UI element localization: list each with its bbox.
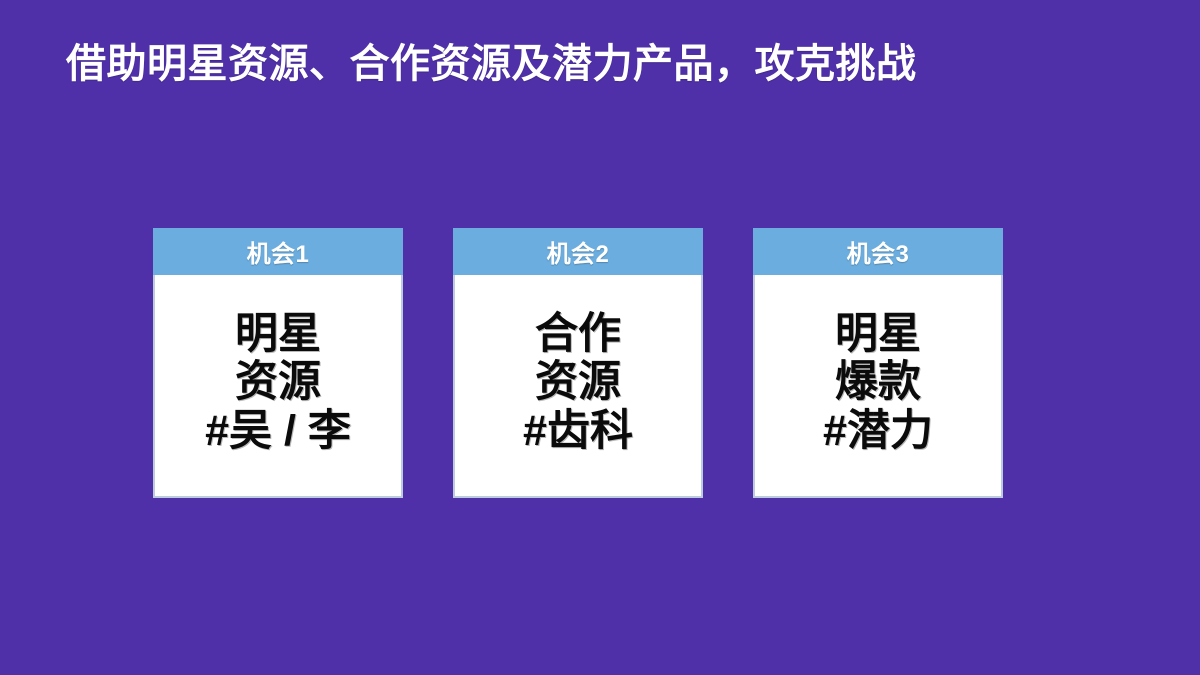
opportunity-cards-row: 机会1 明星 资源 #吴 / 李 机会2 合作 资源 #齿科 机会3 明星 爆款…: [153, 228, 1053, 498]
opportunity-card-3-line-1: 明星: [835, 310, 921, 358]
opportunity-card-1-line-1: 明星: [235, 310, 321, 358]
page-title: 借助明星资源、合作资源及潜力产品，攻克挑战: [66, 40, 1146, 88]
opportunity-card-3[interactable]: 机会3 明星 爆款 #潜力: [753, 228, 1003, 498]
opportunity-card-3-header: 机会3: [753, 228, 1003, 275]
opportunity-card-2-body: 合作 资源 #齿科: [453, 275, 703, 498]
opportunity-card-1-body: 明星 资源 #吴 / 李: [153, 275, 403, 498]
opportunity-card-3-line-2: 爆款: [835, 358, 921, 406]
opportunity-card-2[interactable]: 机会2 合作 资源 #齿科: [453, 228, 703, 498]
opportunity-card-1-header: 机会1: [153, 228, 403, 275]
opportunity-card-1[interactable]: 机会1 明星 资源 #吴 / 李: [153, 228, 403, 498]
opportunity-card-2-line-1: 合作: [535, 310, 621, 358]
opportunity-card-1-tag: #吴 / 李: [205, 407, 351, 455]
opportunity-card-1-line-2: 资源: [235, 358, 321, 406]
opportunity-card-2-line-2: 资源: [535, 358, 621, 406]
slide-canvas: 借助明星资源、合作资源及潜力产品，攻克挑战 机会1 明星 资源 #吴 / 李 机…: [0, 0, 1200, 675]
opportunity-card-2-tag: #齿科: [523, 407, 633, 455]
opportunity-card-3-body: 明星 爆款 #潜力: [753, 275, 1003, 498]
opportunity-card-3-tag: #潜力: [823, 407, 933, 455]
opportunity-card-2-header: 机会2: [453, 228, 703, 275]
